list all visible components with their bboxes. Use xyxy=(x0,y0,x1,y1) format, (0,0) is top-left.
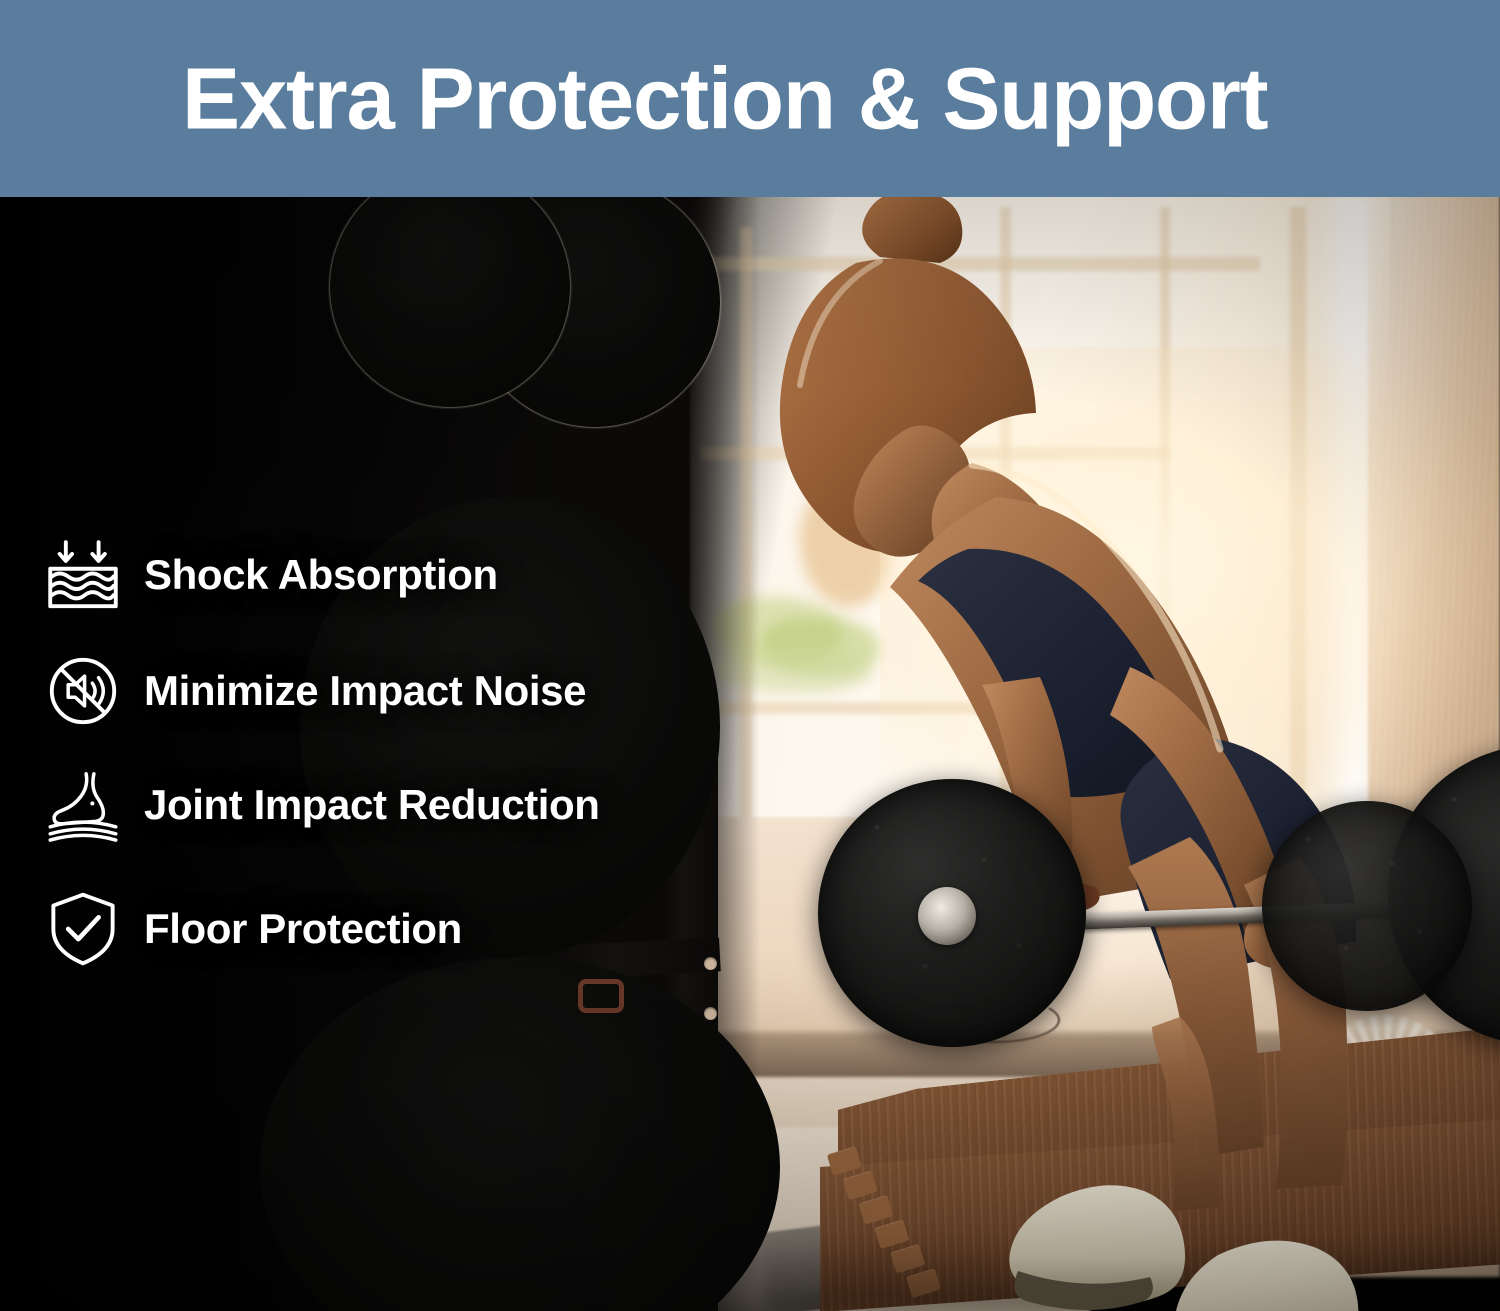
feature-row-shock-absorption: Shock Absorption xyxy=(44,536,498,614)
shoe-right xyxy=(1175,1241,1359,1311)
shock-absorption-icon xyxy=(44,536,122,614)
joint-impact-reduction-icon xyxy=(44,766,122,844)
rack-hole-2 xyxy=(704,1007,717,1020)
rack-hole-1 xyxy=(704,957,717,970)
feature-row-joint-impact-reduction: Joint Impact Reduction xyxy=(44,766,600,844)
feature-label-joint-impact-reduction: Joint Impact Reduction xyxy=(144,784,600,826)
floor-protection-icon xyxy=(44,890,122,968)
promo-banner: Extra Protection & Support xyxy=(0,0,1500,1311)
weight-plate-right-inner xyxy=(1262,801,1472,1011)
feature-row-floor-protection: Floor Protection xyxy=(44,890,462,968)
feature-label-minimize-impact-noise: Minimize Impact Noise xyxy=(144,670,586,712)
page-title: Extra Protection & Support xyxy=(182,55,1267,142)
feature-label-shock-absorption: Shock Absorption xyxy=(144,554,498,596)
barbell-collar xyxy=(918,887,976,945)
feature-label-floor-protection: Floor Protection xyxy=(144,908,462,950)
minimize-impact-noise-icon xyxy=(44,652,122,730)
rack-j-hook xyxy=(578,979,624,1013)
hero-photo: Shock Absorption Minimize Impact Noise xyxy=(0,197,1500,1311)
header-band: Extra Protection & Support xyxy=(0,0,1500,197)
hair-bun xyxy=(862,197,962,263)
feature-row-minimize-impact-noise: Minimize Impact Noise xyxy=(44,652,586,730)
